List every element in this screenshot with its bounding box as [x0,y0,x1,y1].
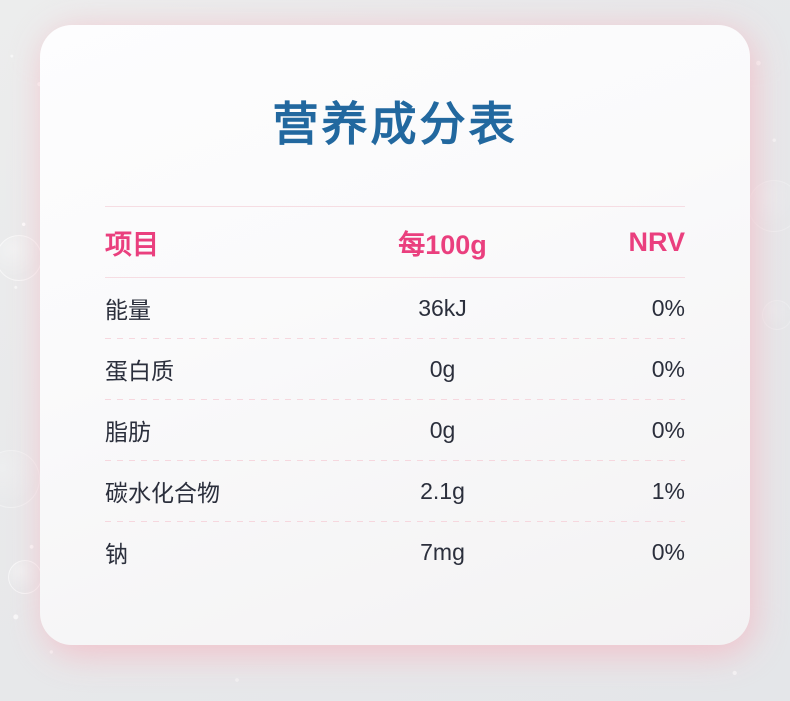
nutrition-table: 项目 每100g NRV 能量 36kJ 0% 蛋白质 0g 0% 脂肪 0g … [105,206,685,582]
bubble-decoration-icon [0,235,42,281]
row-item-label: 碳水化合物 [105,474,350,508]
header-item: 项目 [105,223,350,262]
table-row: 蛋白质 0g 0% [105,339,685,399]
table-header-row: 项目 每100g NRV [105,207,685,277]
row-item-nrv: 1% [535,478,685,505]
header-nrv: NRV [535,227,685,258]
bubble-decoration-icon [748,180,790,232]
row-item-label: 钠 [105,535,350,569]
row-item-value: 36kJ [350,295,535,322]
row-item-value: 0g [350,356,535,383]
table-row: 能量 36kJ 0% [105,278,685,338]
row-item-value: 0g [350,417,535,444]
row-item-nrv: 0% [535,356,685,383]
row-item-label: 能量 [105,291,350,325]
row-item-nrv: 0% [535,295,685,322]
row-item-label: 脂肪 [105,413,350,447]
bubble-decoration-icon [8,560,42,594]
nutrition-card: 营养成分表 项目 每100g NRV 能量 36kJ 0% 蛋白质 0g 0% … [40,25,750,645]
row-item-value: 2.1g [350,478,535,505]
page-title: 营养成分表 [40,88,750,154]
table-row: 钠 7mg 0% [105,522,685,582]
table-row: 脂肪 0g 0% [105,400,685,460]
row-item-label: 蛋白质 [105,352,350,386]
bubble-decoration-icon [762,300,790,330]
bubble-decoration-icon [0,450,40,508]
table-row: 碳水化合物 2.1g 1% [105,461,685,521]
header-per-100g: 每100g [350,223,535,262]
row-item-value: 7mg [350,539,535,566]
row-item-nrv: 0% [535,539,685,566]
row-item-nrv: 0% [535,417,685,444]
